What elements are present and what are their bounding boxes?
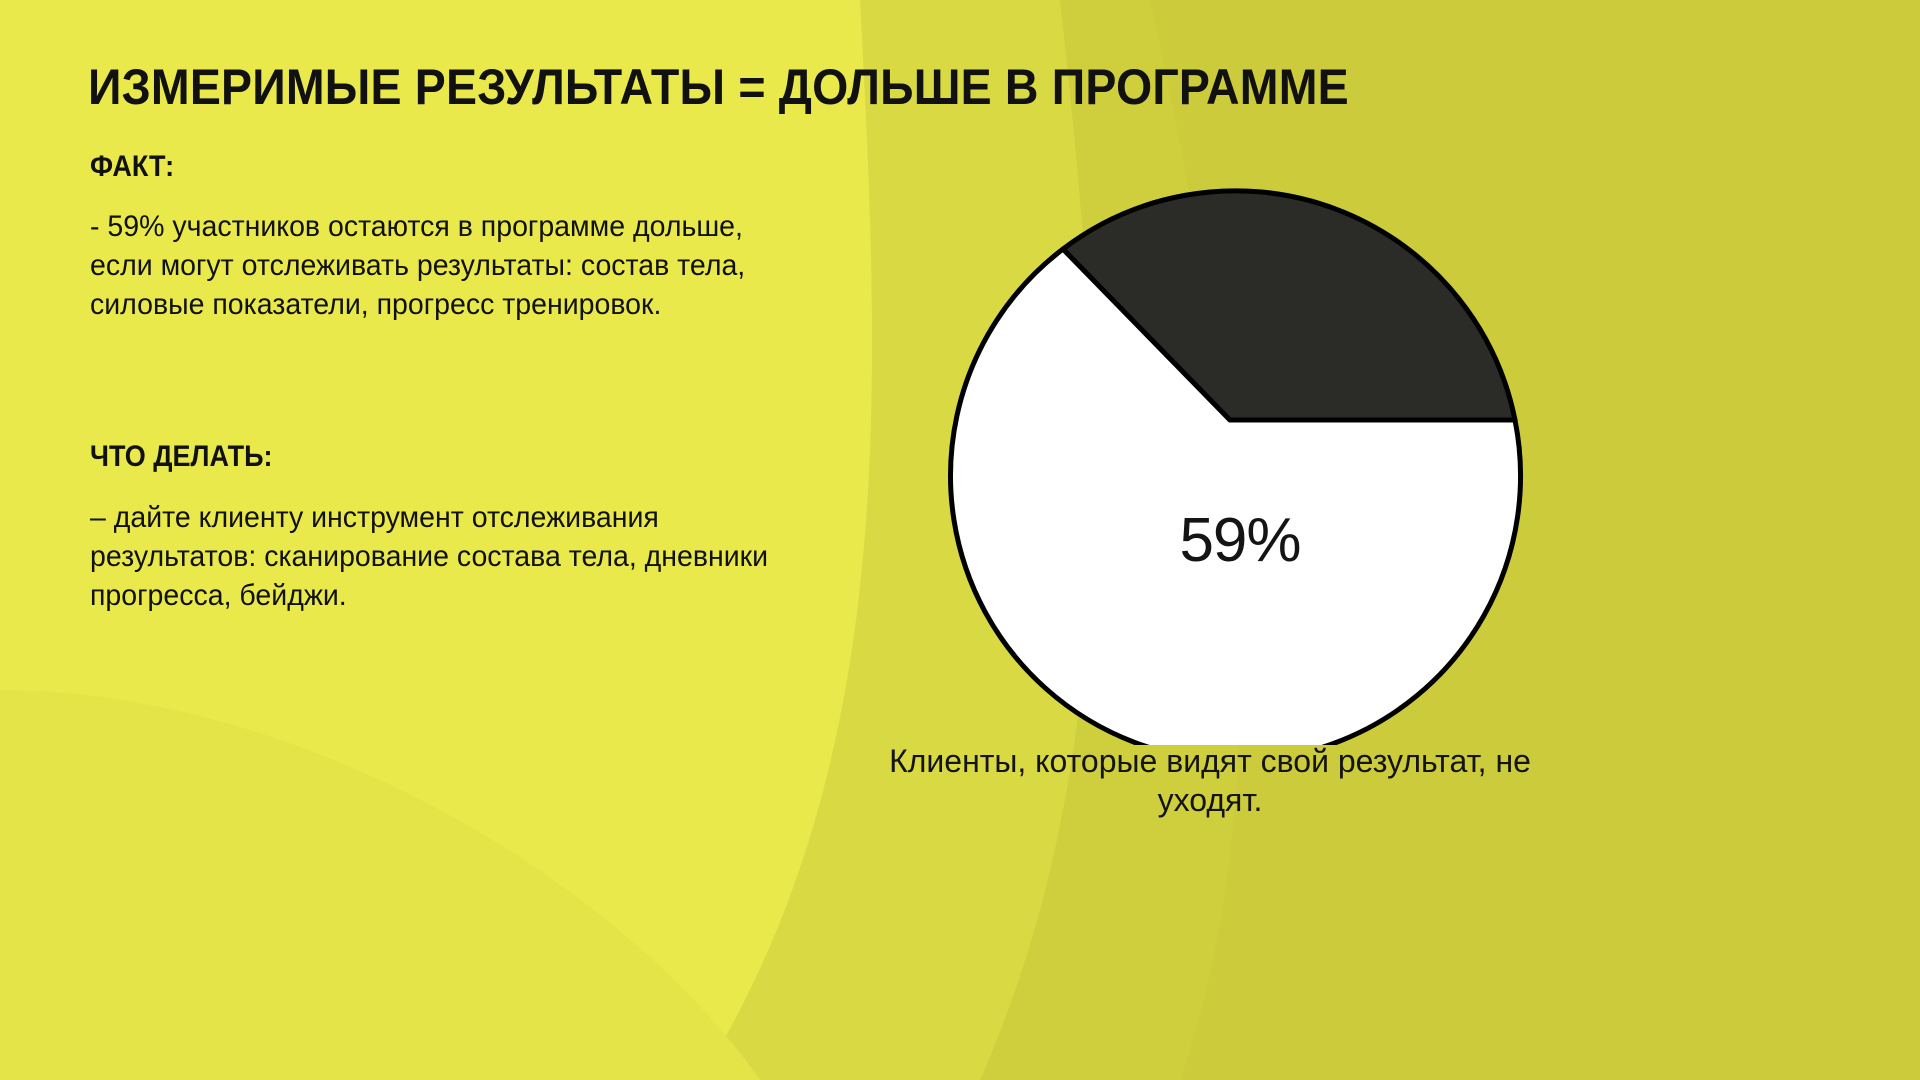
todo-text: – дайте клиенту инструмент отслеживания … — [90, 498, 812, 615]
chart-caption: Клиенты, которые видят свой результат, н… — [840, 742, 1580, 820]
fact-text: - 59% участников остаются в программе до… — [90, 207, 812, 324]
slide-canvas: ИЗМЕРИМЫЕ РЕЗУЛЬТАТЫ = ДОЛЬШЕ В ПРОГРАММ… — [0, 0, 1920, 1080]
pie-chart: 59% — [910, 105, 1570, 745]
todo-heading: ЧТО ДЕЛАТЬ: — [90, 440, 273, 474]
pie-chart-graphic — [910, 105, 1570, 745]
fact-heading: ФАКТ: — [90, 150, 174, 184]
pie-center-percent: 59% — [910, 505, 1570, 576]
